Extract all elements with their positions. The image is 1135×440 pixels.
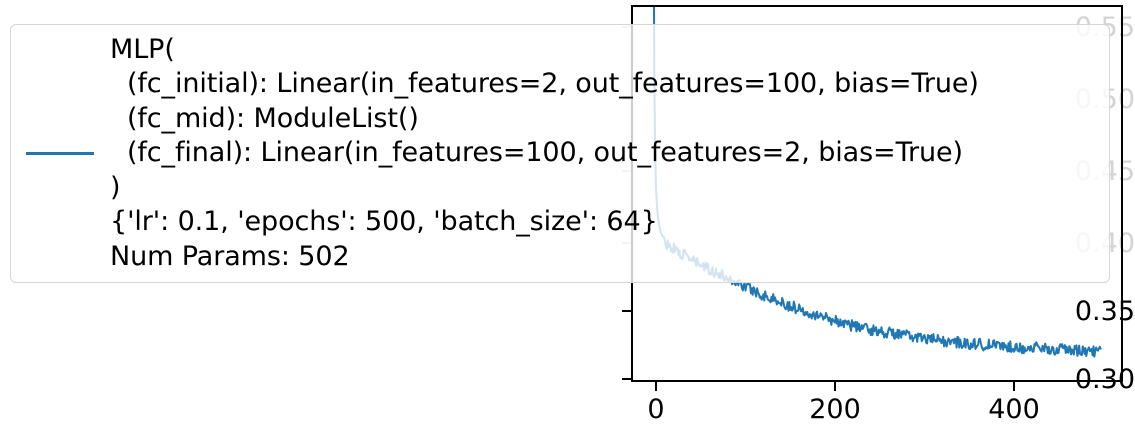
xtick-label-1: 200 (809, 396, 861, 423)
xtick-label-0: 0 (647, 396, 664, 423)
figure-canvas: 0.55 0.50 0.45 0.40 0.35 0.30 0 200 400 (0, 0, 1135, 440)
xtick-mark-0 (655, 382, 657, 391)
ytick-mark-5 (622, 378, 631, 380)
xtick-label-2: 400 (988, 396, 1040, 423)
ytick-mark-4 (622, 310, 631, 312)
legend-box (10, 24, 1110, 283)
xtick-mark-2 (1013, 382, 1015, 391)
xtick-mark-1 (834, 382, 836, 391)
